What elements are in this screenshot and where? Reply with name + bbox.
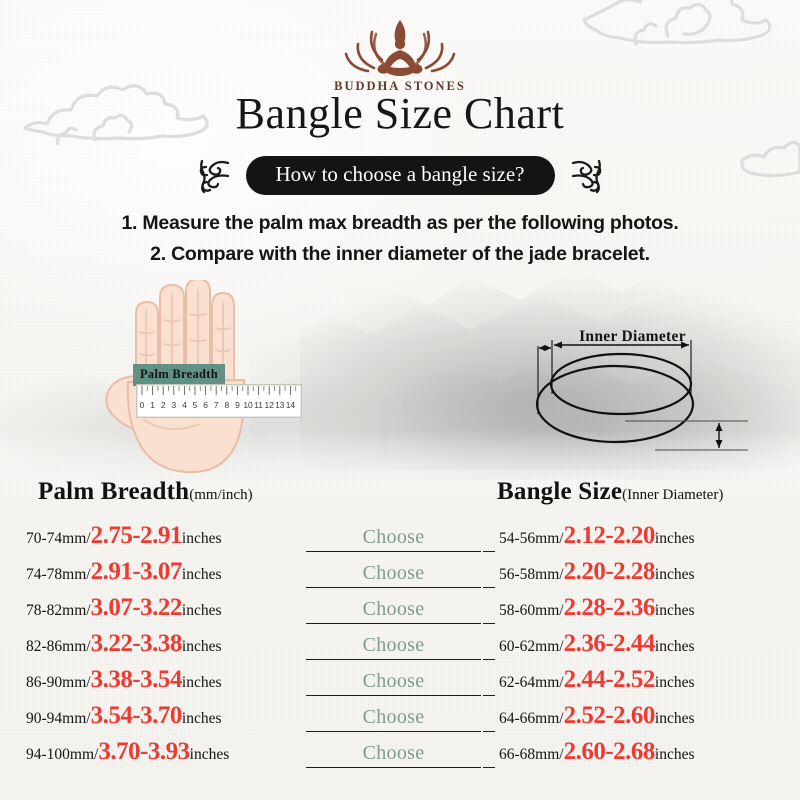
bangle-size-value: 60-62mm/2.36-2.44inches — [499, 630, 695, 658]
palm-breadth-row: 94-100mm/3.70-3.93inchesChoose — [26, 736, 481, 772]
bangle-size-mm: 56-58mm/ — [499, 566, 564, 583]
svg-text:14: 14 — [286, 400, 296, 410]
cloud-swirl-icon — [198, 158, 232, 194]
palm-breadth-mm: 86-90mm/ — [26, 674, 91, 691]
svg-text:12: 12 — [265, 400, 275, 410]
choose-field[interactable]: Choose — [306, 738, 481, 768]
choose-label[interactable]: Choose — [306, 526, 481, 549]
brand-logo: BUDDHA STONES — [0, 8, 800, 94]
table-row: 94-100mm/3.70-3.93inchesChoose66-68mm/2.… — [0, 736, 800, 772]
choose-field[interactable]: Choose — [306, 630, 481, 660]
table-row: 82-86mm/3.22-3.38inchesChoose60-62mm/2.3… — [0, 628, 800, 664]
palm-breadth-row: 86-90mm/3.38-3.54inchesChoose — [26, 664, 481, 700]
bangle-size-mm: 54-56mm/ — [499, 530, 564, 547]
choose-underline — [306, 551, 481, 552]
choose-label[interactable]: Choose — [306, 706, 481, 729]
lotus-meditation-icon — [342, 8, 458, 78]
size-chart-page: BUDDHA STONES Bangle Size Chart How to c… — [0, 0, 800, 800]
choose-label[interactable]: Choose — [306, 742, 481, 765]
palm-breadth-value: 70-74mm/2.75-2.91inches — [26, 522, 222, 550]
bangle-size-value: 64-66mm/2.52-2.60inches — [499, 702, 695, 730]
svg-text:5: 5 — [193, 400, 198, 410]
svg-text:13: 13 — [275, 400, 285, 410]
palm-breadth-unit: inches — [190, 746, 230, 763]
choose-label[interactable]: Choose — [306, 562, 481, 585]
row-connector-line — [483, 551, 495, 552]
table-row: 86-90mm/3.38-3.54inchesChoose62-64mm/2.4… — [0, 664, 800, 700]
bangle-size-value: 58-60mm/2.28-2.36inches — [499, 594, 695, 622]
bangle-size-inches: 2.28-2.36 — [564, 594, 655, 621]
row-connector-line — [483, 695, 495, 696]
choose-underline — [306, 587, 481, 588]
bangle-size-column-heading: Bangle Size(Inner Diameter) — [497, 478, 723, 506]
palm-breadth-unit: inches — [182, 710, 222, 727]
bangle-size-row: 58-60mm/2.28-2.36inches — [495, 592, 790, 628]
palm-breadth-row: 78-82mm/3.07-3.22inchesChoose — [26, 592, 481, 628]
palm-breadth-unit: inches — [182, 602, 222, 619]
row-connector-line — [483, 731, 495, 732]
palm-breadth-value: 78-82mm/3.07-3.22inches — [26, 594, 222, 622]
subtitle-row: How to choose a bangle size? — [0, 156, 800, 195]
palm-breadth-column-heading: Palm Breadth(mm/inch) — [38, 478, 253, 506]
bangle-size-inches: 2.52-2.60 — [564, 702, 655, 729]
bangle-size-unit: inches — [655, 710, 695, 727]
bangle-size-row: 64-66mm/2.52-2.60inches — [495, 700, 790, 736]
row-connector-line — [483, 659, 495, 660]
choose-label[interactable]: Choose — [306, 634, 481, 657]
palm-breadth-value: 90-94mm/3.54-3.70inches — [26, 702, 222, 730]
bangle-size-mm: 62-64mm/ — [499, 674, 564, 691]
svg-text:6: 6 — [203, 400, 208, 410]
palm-breadth-value: 86-90mm/3.38-3.54inches — [26, 666, 222, 694]
choose-field[interactable]: Choose — [306, 666, 481, 696]
size-tables: 70-74mm/2.75-2.91inchesChoose54-56mm/2.1… — [0, 520, 800, 772]
bangle-size-unit: inches — [655, 674, 695, 691]
choose-field[interactable]: Choose — [306, 522, 481, 552]
palm-breadth-inches: 3.22-3.38 — [91, 630, 182, 657]
palm-breadth-inches: 2.91-3.07 — [91, 558, 182, 585]
palm-breadth-row: 82-86mm/3.22-3.38inchesChoose — [26, 628, 481, 664]
bangle-size-inches: 2.44-2.52 — [564, 666, 655, 693]
palm-breadth-row: 90-94mm/3.54-3.70inchesChoose — [26, 700, 481, 736]
choose-field[interactable]: Choose — [306, 702, 481, 732]
how-to-choose-banner: How to choose a bangle size? — [246, 156, 555, 195]
palm-breadth-heading-unit: (mm/inch) — [189, 487, 252, 503]
palm-breadth-inches: 2.75-2.91 — [91, 522, 182, 549]
instruction-step-2: 2. Compare with the inner diameter of th… — [0, 239, 800, 270]
palm-breadth-unit: inches — [182, 638, 222, 655]
palm-breadth-inches: 3.07-3.22 — [91, 594, 182, 621]
bangle-size-unit: inches — [655, 638, 695, 655]
bangle-size-inches: 2.20-2.28 — [564, 558, 655, 585]
bangle-size-unit: inches — [655, 602, 695, 619]
bangle-size-mm: 60-62mm/ — [499, 638, 564, 655]
choose-underline — [306, 623, 481, 624]
palm-breadth-row: 70-74mm/2.75-2.91inchesChoose — [26, 520, 481, 556]
palm-breadth-inches: 3.38-3.54 — [91, 666, 182, 693]
choose-label[interactable]: Choose — [306, 670, 481, 693]
svg-text:7: 7 — [214, 400, 219, 410]
palm-breadth-unit: inches — [182, 674, 222, 691]
instruction-step-1: 1. Measure the palm max breadth as per t… — [0, 208, 800, 239]
palm-breadth-heading-text: Palm Breadth — [38, 478, 189, 505]
bangle-size-inches: 2.36-2.44 — [564, 630, 655, 657]
table-row: 78-82mm/3.07-3.22inchesChoose58-60mm/2.2… — [0, 592, 800, 628]
palm-breadth-inches: 3.54-3.70 — [91, 702, 182, 729]
illustration-band: Palm Breadth — [0, 272, 800, 472]
bangle-size-value: 66-68mm/2.60-2.68inches — [499, 738, 695, 766]
palm-breadth-mm: 78-82mm/ — [26, 602, 91, 619]
bangle-size-mm: 58-60mm/ — [499, 602, 564, 619]
row-connector-line — [483, 587, 495, 588]
bangle-size-mm: 64-66mm/ — [499, 710, 564, 727]
row-connector-line — [483, 623, 495, 624]
svg-text:3: 3 — [171, 400, 176, 410]
svg-text:4: 4 — [182, 400, 187, 410]
palm-breadth-value: 74-78mm/2.91-3.07inches — [26, 558, 222, 586]
choose-underline — [306, 767, 481, 768]
row-connector-line — [483, 767, 495, 768]
svg-text:0: 0 — [140, 400, 145, 410]
choose-underline — [306, 731, 481, 732]
bangle-size-value: 56-58mm/2.20-2.28inches — [499, 558, 695, 586]
palm-breadth-mm: 70-74mm/ — [26, 530, 91, 547]
bangle-size-unit: inches — [655, 746, 695, 763]
bangle-size-heading-text: Bangle Size — [497, 478, 622, 505]
bangle-size-unit: inches — [655, 530, 695, 547]
svg-text:11: 11 — [254, 400, 263, 410]
svg-text:1: 1 — [150, 400, 155, 410]
palm-breadth-mm: 94-100mm/ — [26, 746, 98, 763]
palm-breadth-mm: 74-78mm/ — [26, 566, 91, 583]
palm-breadth-band-label: Palm Breadth — [133, 364, 225, 386]
bangle-ring-icon — [505, 318, 760, 468]
choose-field[interactable]: Choose — [306, 558, 481, 588]
instruction-steps: 1. Measure the palm max breadth as per t… — [0, 208, 800, 270]
palm-breadth-unit: inches — [182, 530, 222, 547]
table-row: 70-74mm/2.75-2.91inchesChoose54-56mm/2.1… — [0, 520, 800, 556]
choose-field[interactable]: Choose — [306, 594, 481, 624]
bangle-size-inches: 2.60-2.68 — [564, 738, 655, 765]
bangle-size-heading-unit: (Inner Diameter) — [622, 487, 723, 503]
bangle-size-unit: inches — [655, 566, 695, 583]
bangle-size-row: 60-62mm/2.36-2.44inches — [495, 628, 790, 664]
svg-text:8: 8 — [224, 400, 229, 410]
bangle-size-row: 62-64mm/2.44-2.52inches — [495, 664, 790, 700]
table-row: 74-78mm/2.91-3.07inchesChoose56-58mm/2.2… — [0, 556, 800, 592]
svg-text:9: 9 — [235, 400, 240, 410]
svg-text:10: 10 — [243, 400, 253, 410]
table-row: 90-94mm/3.54-3.70inchesChoose64-66mm/2.5… — [0, 700, 800, 736]
bangle-size-inches: 2.12-2.20 — [564, 522, 655, 549]
bangle-size-mm: 66-68mm/ — [499, 746, 564, 763]
choose-label[interactable]: Choose — [306, 598, 481, 621]
palm-breadth-mm: 82-86mm/ — [26, 638, 91, 655]
choose-underline — [306, 659, 481, 660]
palm-breadth-value: 82-86mm/3.22-3.38inches — [26, 630, 222, 658]
palm-breadth-mm: 90-94mm/ — [26, 710, 91, 727]
choose-underline — [306, 695, 481, 696]
bangle-size-value: 62-64mm/2.44-2.52inches — [499, 666, 695, 694]
palm-breadth-row: 74-78mm/2.91-3.07inchesChoose — [26, 556, 481, 592]
palm-breadth-inches: 3.70-3.93 — [98, 738, 189, 765]
ruler-icon: 012 345 678 91011 121314 — [136, 384, 302, 418]
bangle-size-row: 54-56mm/2.12-2.20inches — [495, 520, 790, 556]
bangle-size-value: 54-56mm/2.12-2.20inches — [499, 522, 695, 550]
page-title: Bangle Size Chart — [0, 88, 800, 139]
palm-breadth-unit: inches — [182, 566, 222, 583]
bangle-size-row: 56-58mm/2.20-2.28inches — [495, 556, 790, 592]
palm-breadth-value: 94-100mm/3.70-3.93inches — [26, 738, 229, 766]
svg-text:2: 2 — [161, 400, 166, 410]
bangle-size-row: 66-68mm/2.60-2.68inches — [495, 736, 790, 772]
cloud-swirl-icon — [569, 158, 603, 194]
